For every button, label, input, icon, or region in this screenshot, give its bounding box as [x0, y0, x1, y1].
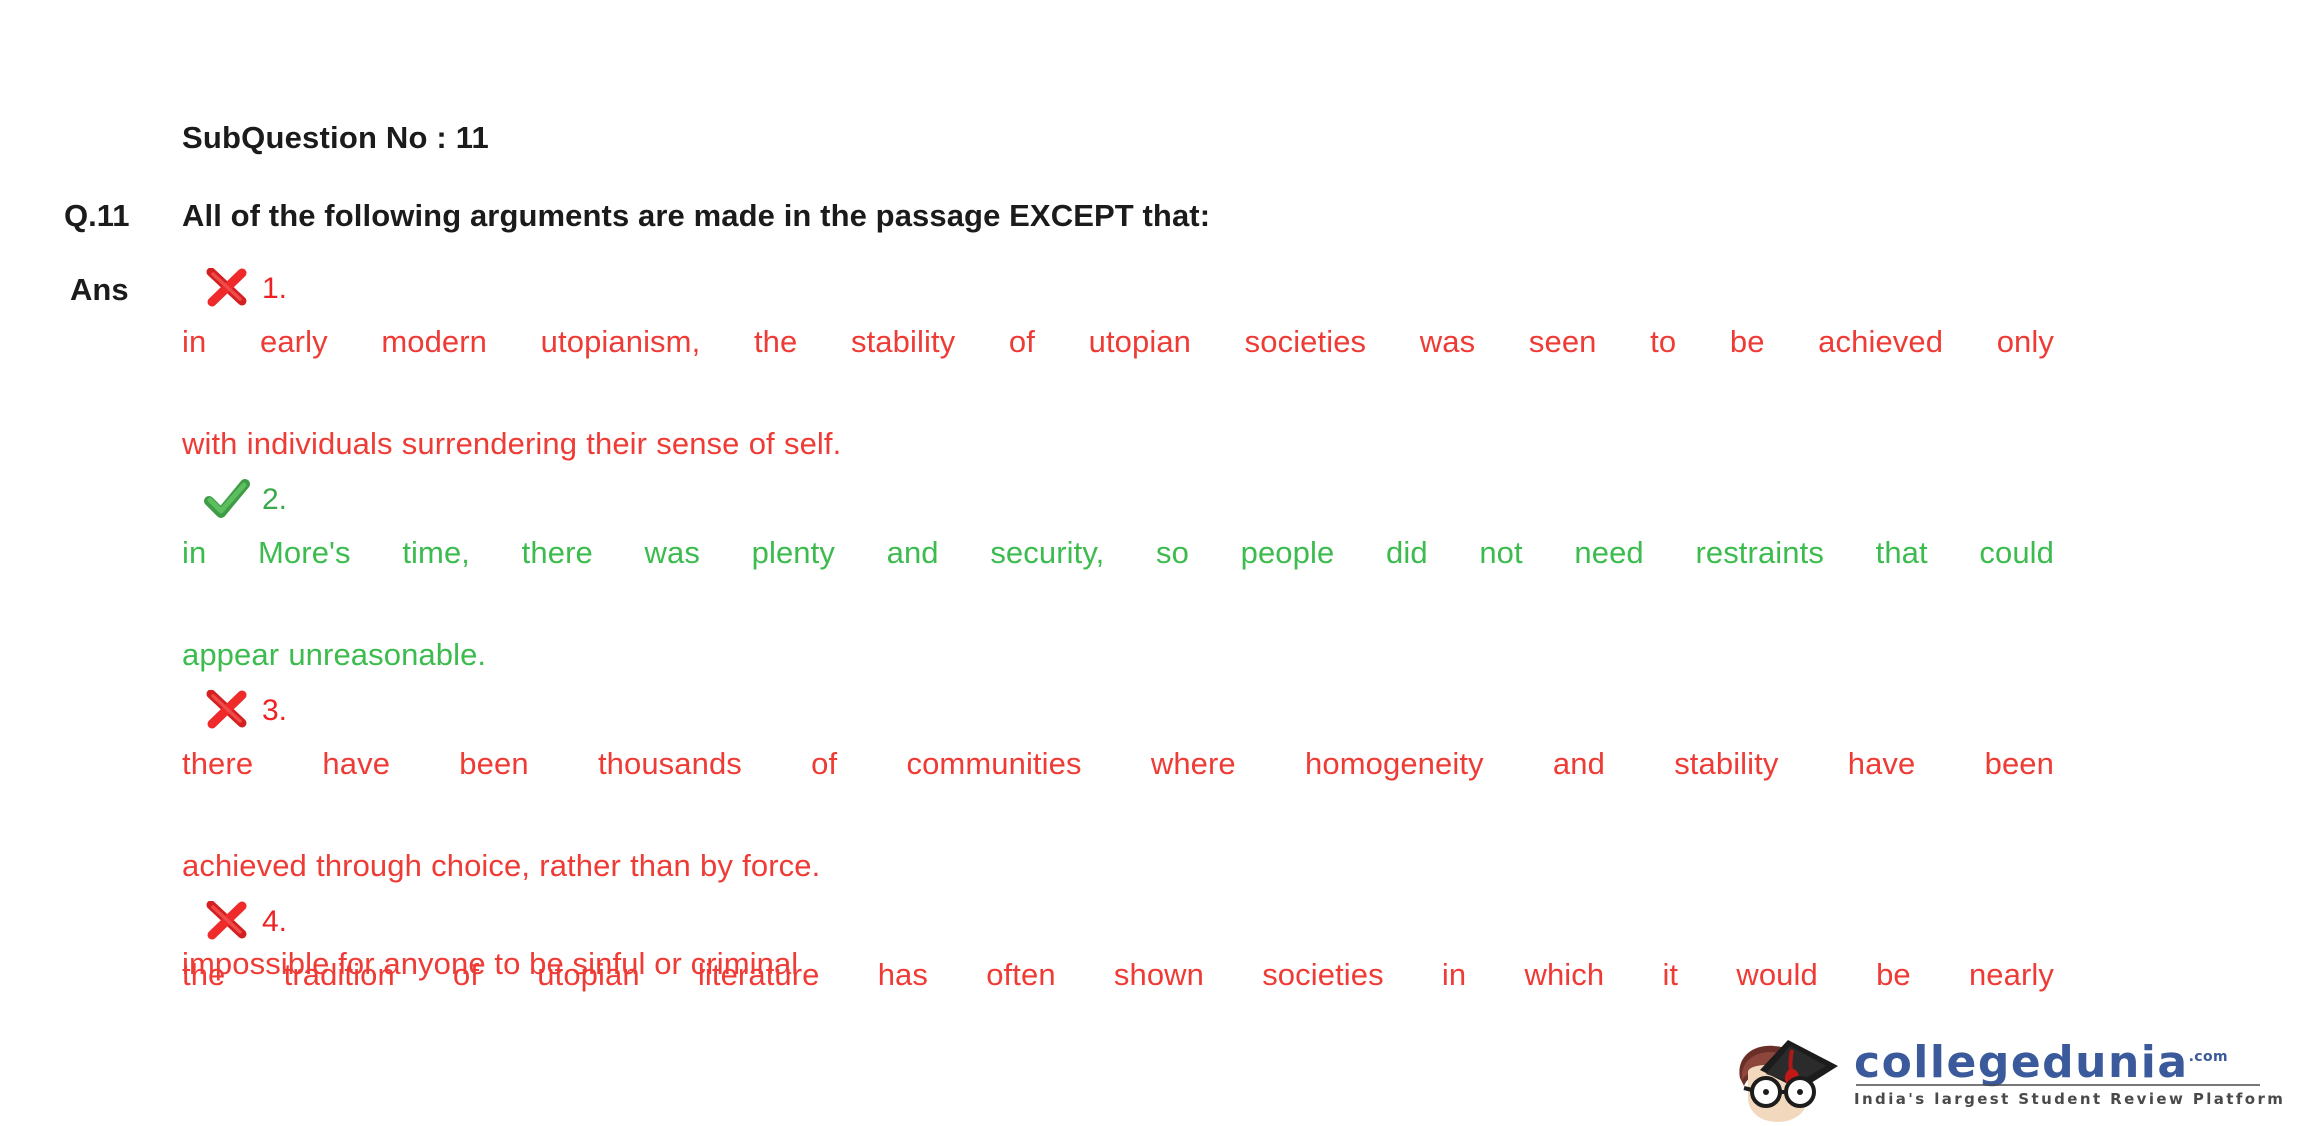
watermark-tagline: India's largest Student Review Platform: [1854, 1090, 2294, 1108]
option-1-line-2: with individuals surrendering their sens…: [182, 418, 2054, 469]
watermark-underline: [1856, 1084, 2260, 1086]
subquestion-label: SubQuestion No : 11: [182, 120, 489, 156]
option-2-line-2: appear unreasonable.: [182, 629, 2054, 680]
option-3[interactable]: 3. there have been thousands of communit…: [182, 684, 2054, 891]
option-4-clipped-line-wrapper: impossible for anyone to be sinful or cr…: [182, 944, 2054, 982]
option-1-text: in early modern utopianism, the stabilit…: [182, 316, 2054, 469]
option-1[interactable]: 1. in early modern utopianism, the stabi…: [182, 262, 2054, 469]
option-3-text: there have been thousands of communities…: [182, 738, 2054, 891]
answer-label: Ans: [70, 272, 129, 308]
option-1-number: 1.: [262, 274, 287, 304]
cross-icon: [204, 690, 250, 732]
option-2-header: 2.: [182, 473, 2054, 527]
watermark-suffix: .com: [2189, 1049, 2228, 1065]
watermark-text: collegedunia.com India's largest Student…: [1854, 1038, 2294, 1108]
option-4-clipped-line: impossible for anyone to be sinful or cr…: [182, 944, 2054, 982]
question-number: Q.11: [64, 198, 182, 234]
exam-answer-page: SubQuestion No : 11 Q.11 All of the foll…: [0, 0, 2310, 1126]
options-list: 1. in early modern utopianism, the stabi…: [182, 262, 2054, 1055]
cross-icon: [204, 268, 250, 310]
watermark-brand: collegedunia: [1854, 1038, 2189, 1088]
option-3-header: 3.: [182, 684, 2054, 738]
question-text: All of the following arguments are made …: [182, 198, 1210, 234]
option-3-line-1: there have been thousands of communities…: [182, 738, 2054, 840]
option-3-line-2: achieved through choice, rather than by …: [182, 840, 2054, 891]
option-3-number: 3.: [262, 696, 287, 726]
option-4-number: 4.: [262, 907, 287, 937]
collegedunia-watermark: collegedunia.com India's largest Student…: [1726, 1032, 2296, 1126]
graduate-face-icon: [1726, 1034, 1838, 1126]
question-row: Q.11 All of the following arguments are …: [64, 198, 1210, 234]
cross-icon: [204, 901, 250, 943]
option-1-header: 1.: [182, 262, 2054, 316]
check-icon: [204, 479, 250, 521]
option-4-header: 4.: [182, 895, 2054, 949]
option-2[interactable]: 2. in More's time, there was plenty and …: [182, 473, 2054, 680]
option-2-line-1: in More's time, there was plenty and sec…: [182, 527, 2054, 629]
option-2-text: in More's time, there was plenty and sec…: [182, 527, 2054, 680]
option-2-number: 2.: [262, 485, 287, 515]
option-1-line-1: in early modern utopianism, the stabilit…: [182, 316, 2054, 418]
